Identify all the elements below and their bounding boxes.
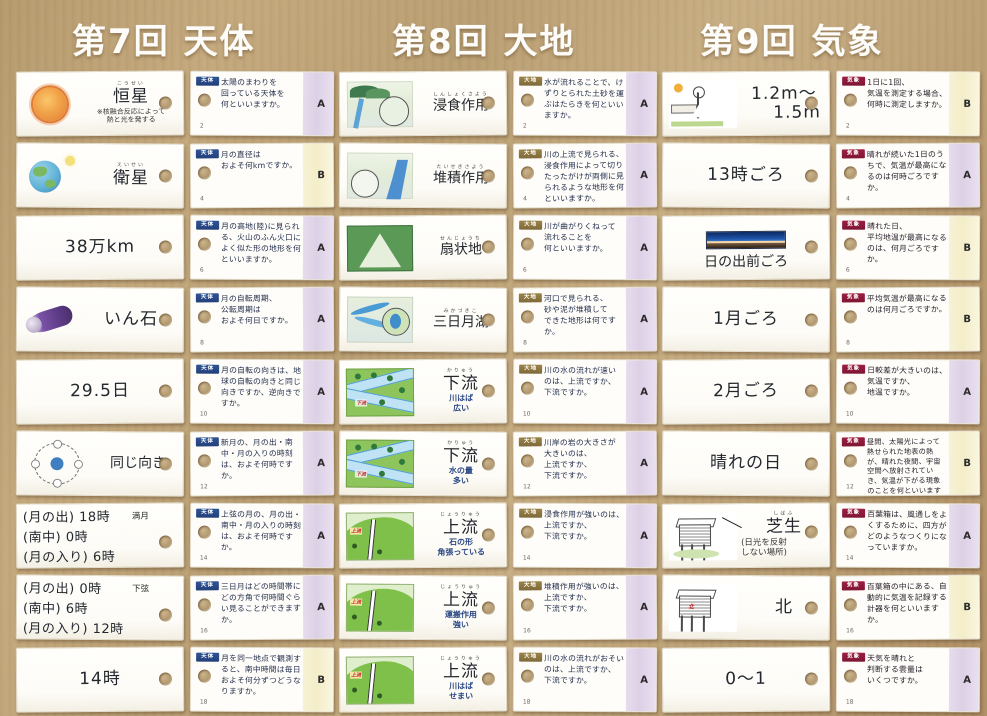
answer-card[interactable]: えいせい 衛星 <box>16 142 184 208</box>
card-pair-row: 北 北 気象 16 百葉箱の中にある、自動的に気温を記録する計器を何といいますか… <box>660 572 980 643</box>
question-card[interactable]: 天体 8 月の自転周期、 公転周期は およそ何日ですか。 A <box>190 286 334 352</box>
answer-card[interactable]: 上流 じょうりゅう 上流 川はば せまい <box>339 646 508 712</box>
category-badge: 大地 <box>519 365 542 374</box>
answer-text: 1月ごろ <box>713 310 779 329</box>
question-text: 三日月はどの時間帯にどの方角で何時間ぐらい見ることができますか。 <box>221 581 301 626</box>
question-card[interactable]: 天体 10 月の自転の向きは、地球の自転の向きと同じ向きですか、逆向きですか。 … <box>190 359 334 425</box>
answer-line: (月の出) 18時 <box>23 506 110 526</box>
answer-text: 衛星 <box>113 169 149 188</box>
question-text: 晴れが続いた1日のうちで、気温が最高になるのは何時ごろですか。 <box>867 149 947 194</box>
answer-text: 堆積作用 <box>433 171 489 187</box>
question-card[interactable]: 気象 16 百葉箱の中にある、自動的に気温を記録する計器を何といいますか。 B <box>836 574 980 640</box>
answer-card[interactable]: 晴れの日 <box>662 430 830 496</box>
answer-line: (月の入り) 12時 <box>23 617 124 637</box>
category-badge: 天体 <box>196 581 219 590</box>
punch-hole-icon <box>805 169 818 182</box>
answer-illustration: 上流 <box>344 654 416 707</box>
answer-text: 三日月湖 <box>433 315 489 331</box>
answer-text: 下流 <box>443 447 479 466</box>
question-text: 川の水の流れがおそい のは、上流ですか、 下流ですか。 <box>544 653 624 687</box>
punch-hole-icon <box>198 238 211 251</box>
punch-hole-icon <box>482 240 495 253</box>
punch-hole-icon <box>805 525 818 538</box>
category-badge: 天体 <box>196 77 219 86</box>
question-text: 月を同一地点で観測すると、南中時間は毎日およそ何分ずつどうなりますか。 <box>221 653 301 698</box>
question-text: 月の高地(陸)に見られる、火山のふん火口によく似た形の地形を何といいますか。 <box>221 221 301 266</box>
answer-note: 水の量 多い <box>449 467 473 487</box>
question-text: 上弦の月の、月の出・南中・月の入りの時刻は、およそ何時ですか。 <box>221 509 301 554</box>
answer-key-letter: B <box>963 98 971 109</box>
punch-hole-icon <box>198 166 211 179</box>
category-badge: 天体 <box>196 509 219 518</box>
upstream-map-icon: 上流 <box>346 583 414 631</box>
question-card[interactable]: 大地 18 川の水の流れがおそい のは、上流ですか、 下流ですか。 A <box>513 647 657 713</box>
answer-illustration <box>21 149 79 201</box>
answer-key-letter: A <box>317 530 325 541</box>
card-pair-row: えいせい 衛星 天体 4 月の直径は およそ何kmですか。 B <box>14 140 334 211</box>
question-card[interactable]: 気象 2 1日に1回、 気温を測定する場合、 何時に測定しますか。 B <box>836 71 980 137</box>
question-card[interactable]: 気象 10 日較差が大きいのは、 気温ですか、 地温ですか。 A <box>836 359 980 425</box>
answer-key-letter: B <box>963 602 971 613</box>
answer-text: 扇状地 <box>440 242 482 258</box>
card-pair-row: 13時ごろ 気象 4 晴れが続いた1日のうちで、気温が最高になるのは何時ごろです… <box>660 140 980 211</box>
punch-hole-icon <box>521 454 534 467</box>
answer-card[interactable]: 同じ向き <box>16 430 184 496</box>
card-pair-row: しんしょくさよう 浸食作用 大地 2 水が流れることで、けずりとられた土砂を運ぶ… <box>337 68 657 139</box>
answer-key-letter: A <box>963 674 971 685</box>
answer-key-letter: A <box>640 170 648 181</box>
question-number: 2 <box>200 123 204 130</box>
question-number: 6 <box>523 267 527 274</box>
answer-key-letter: A <box>963 530 971 541</box>
answer-illustration: 下流 <box>344 366 416 419</box>
erosion-diagram-icon <box>347 81 413 128</box>
answer-illustration: 上流 <box>344 581 416 634</box>
answer-card[interactable]: しんしょくさよう 浸食作用 <box>339 70 508 136</box>
card-pair-row: 38万km 天体 6 月の高地(陸)に見られる、火山のふん火口によく似た形の地形… <box>14 212 334 283</box>
answer-key-letter: B <box>963 314 971 325</box>
answer-text: 浸食作用 <box>433 98 489 114</box>
answer-text: 恒星 <box>113 88 149 107</box>
answer-card[interactable]: 0〜1 <box>662 646 831 712</box>
answer-card[interactable]: 北 北 <box>662 574 830 640</box>
answer-key-letter: B <box>963 242 971 253</box>
punch-hole-icon <box>482 169 495 182</box>
question-text: 月の自転の向きは、地球の自転の向きと同じ向きですか、逆向きですか。 <box>221 365 301 410</box>
card-pair-row: 1.2m〜 1.5m 気象 2 1日に1回、 気温を測定する場合、 何時に測定し… <box>660 68 980 139</box>
question-number: 18 <box>523 699 531 706</box>
question-card[interactable]: 天体 2 太陽のまわりを 回っている天体を 何といいますか。 A <box>190 71 334 137</box>
question-card[interactable]: 大地 6 川が曲がりくねって 流れることを 何といいますか。 A <box>513 215 657 281</box>
answer-text-lines: (月の出) 18時 (南中) 0時 (月の入り) 6時 <box>17 506 116 566</box>
category-badge: 大地 <box>519 437 542 446</box>
answer-text: いん石 <box>104 310 158 329</box>
punch-hole-icon <box>844 166 857 179</box>
question-card[interactable]: 大地 8 河口で見られる、 砂や泥が堆積して できた地形は何ですか。 A <box>513 286 657 352</box>
earth-icon <box>29 160 61 192</box>
card-pair-row: いん石 天体 8 月の自転周期、 公転周期は およそ何日ですか。 A <box>14 284 334 355</box>
question-number: 8 <box>200 339 204 346</box>
question-card[interactable]: 大地 2 水が流れることで、けずりとられた土砂を運ぶはたらきを何といいますか。 … <box>513 71 657 137</box>
category-badge: 気象 <box>842 509 865 518</box>
question-number: 6 <box>846 267 850 274</box>
question-number: 12 <box>846 483 854 490</box>
answer-card[interactable]: 下流 かりゅう 下流 水の量 多い <box>339 430 507 496</box>
answer-key-letter: A <box>317 98 325 109</box>
punch-hole-icon <box>844 670 857 683</box>
category-badge: 天体 <box>196 149 219 158</box>
punch-hole-icon <box>198 526 211 539</box>
upstream-map-icon: 上流 <box>346 656 414 705</box>
question-text: 川の水の流れが速い のは、上流ですか、 下流ですか。 <box>544 365 624 399</box>
question-card[interactable]: 気象 6 晴れた日、 平均地温が最高になる のは、何月ごろですか。 B <box>836 215 980 281</box>
card-pair-row: 0〜1 気象 18 天気を晴れと 判断する雲量は いくつですか。 A <box>660 644 980 715</box>
answer-key-letter: A <box>317 386 325 397</box>
answer-card[interactable]: たいせきさよう 堆積作用 <box>339 142 507 208</box>
card-pair-row: みかづきこ 三日月湖 大地 8 河口で見られる、 砂や泥が堆積して できた地形は… <box>337 284 657 355</box>
punch-hole-icon <box>521 598 534 611</box>
answer-illustration <box>344 222 416 275</box>
downstream-map-icon: 下流 <box>346 439 414 487</box>
answer-text: 芝生 <box>766 518 802 537</box>
question-text: 月の直径は およそ何kmですか。 <box>221 149 301 172</box>
category-badge: 気象 <box>842 653 865 662</box>
card-pair-row: 14時 天体 18 月を同一地点で観測すると、南中時間は毎日およそ何分ずつどうな… <box>14 644 334 715</box>
answer-card[interactable]: (月の出) 18時 (南中) 0時 (月の入り) 6時 満月 <box>16 502 185 568</box>
category-badge: 大地 <box>519 509 542 518</box>
deposition-diagram-icon <box>347 152 413 198</box>
card-pair-row: たいせきさよう 堆積作用 大地 4 川の上流で見られる、浸食作用によって切りたっ… <box>337 140 657 211</box>
card-pair-row: 日の出前ごろ 気象 6 晴れた日、 平均地温が最高になる のは、何月ごろですか。… <box>660 212 980 283</box>
oxbow-lake-icon <box>347 296 413 342</box>
card-pair-row: (月の出) 0時 (南中) 6時 (月の入り) 12時 下弦 天体 16 三日月… <box>14 572 334 643</box>
punch-hole-icon <box>844 310 857 323</box>
punch-hole-icon <box>159 240 172 253</box>
answer-text: 29.5日 <box>70 382 130 401</box>
answer-illustration <box>667 510 739 563</box>
answer-text-lines: (月の出) 0時 (南中) 6時 (月の入り) 12時 <box>17 577 124 637</box>
question-number: 4 <box>200 195 204 202</box>
answer-card[interactable]: 14時 <box>16 646 185 712</box>
card-pair-row: せんじょうち 扇状地 大地 6 川が曲がりくねって 流れることを 何といいますか… <box>337 212 657 283</box>
answer-illustration <box>667 78 739 131</box>
punch-hole-icon <box>521 166 534 179</box>
punch-hole-icon <box>844 238 857 251</box>
card-pair-row: 晴れの日 気象 12 昼間、太陽光によって熱せられた地表の熱が、晴れた夜間、宇宙… <box>660 428 980 499</box>
category-badge: 気象 <box>842 293 865 302</box>
answer-card[interactable]: 2月ごろ <box>662 358 831 424</box>
answer-card[interactable]: 1.2m〜 1.5m <box>662 70 831 136</box>
answer-illustration <box>344 149 416 202</box>
answer-note: 川はば 広い <box>449 394 473 414</box>
punch-hole-icon <box>521 382 534 395</box>
answer-card[interactable]: せんじょうち 扇状地 <box>339 214 508 280</box>
punch-hole-icon <box>805 240 818 253</box>
category-badge: 天体 <box>196 437 219 446</box>
answer-key-letter: A <box>640 458 648 469</box>
sun-icon <box>33 87 67 121</box>
answer-text: 2月ごろ <box>713 382 779 401</box>
answer-note: ※核融合反応によって 熱と光を発する <box>97 107 165 125</box>
answer-text: 13時ごろ <box>707 166 785 185</box>
answer-text: 上流 <box>443 662 479 681</box>
card-pair-row: こうせい 恒星 ※核融合反応によって 熱と光を発する 天体 2 太陽のまわりを … <box>14 68 334 139</box>
punch-hole-icon <box>805 601 818 614</box>
answer-line: (月の出) 0時 <box>23 577 102 597</box>
question-number: 2 <box>523 123 527 130</box>
question-text: 川が曲がりくねって 流れることを 何といいますか。 <box>544 221 624 255</box>
card-pair-row: 2月ごろ 気象 10 日較差が大きいのは、 気温ですか、 地温ですか。 A <box>660 356 980 427</box>
question-number: 10 <box>523 411 531 418</box>
question-number: 12 <box>523 483 531 490</box>
question-number: 18 <box>200 699 208 706</box>
answer-card[interactable]: こうせい 恒星 ※核融合反応によって 熱と光を発する <box>16 70 185 136</box>
answer-text: 0〜1 <box>725 670 767 689</box>
question-card[interactable]: 天体 6 月の高地(陸)に見られる、火山のふん火口によく似た形の地形を何といいま… <box>190 215 334 281</box>
punch-hole-icon <box>482 457 495 470</box>
card-pair-row: 下流 かりゅう 下流 水の量 多い 大地 12 川岸の岩の大きさが 大きいのは、… <box>337 428 657 499</box>
answer-card[interactable]: 下流 かりゅう 下流 川はば 広い <box>339 358 508 424</box>
question-text: 昼間、太陽光によって熱せられた地表の熱が、晴れた夜間、宇宙空間へ放射されていき、… <box>867 437 947 497</box>
answer-key-letter: A <box>963 386 971 397</box>
answer-key-letter: B <box>317 170 325 181</box>
category-badge: 大地 <box>519 653 542 662</box>
category-badge: 気象 <box>842 221 865 230</box>
answer-card[interactable]: みかづきこ 三日月湖 <box>339 286 507 352</box>
punch-hole-icon <box>159 169 172 182</box>
question-text: 浸食作用が強いのは、 上流ですか、 下流ですか。 <box>544 509 624 543</box>
category-badge: 天体 <box>196 653 219 662</box>
answer-text: 晴れの日 <box>710 454 782 473</box>
question-text: 日較差が大きいのは、 気温ですか、 地温ですか。 <box>867 365 947 399</box>
louvered-screen-north-icon: 北 <box>669 583 737 631</box>
answer-illustration <box>344 78 416 131</box>
category-badge: 天体 <box>196 221 219 230</box>
question-number: 10 <box>200 411 208 418</box>
answer-key-letter: A <box>963 170 971 181</box>
question-number: 8 <box>523 339 527 346</box>
punch-hole-icon <box>159 384 172 397</box>
punch-hole-icon <box>482 96 495 109</box>
question-number: 14 <box>846 555 854 562</box>
question-card[interactable]: 大地 4 川の上流で見られる、浸食作用によって切りたったがけが両側に見られるよう… <box>513 142 657 208</box>
question-text: 晴れた日、 平均地温が最高になる のは、何月ごろですか。 <box>867 221 947 266</box>
punch-hole-icon <box>844 382 857 395</box>
answer-illustration: 下流 <box>344 437 416 490</box>
answer-key-letter: A <box>640 242 648 253</box>
answer-text: 上流 <box>443 591 479 610</box>
question-card[interactable]: 天体 16 三日月はどの時間帯にどの方角で何時間ぐらい見ることができますか。 A <box>190 574 334 640</box>
question-card[interactable]: 天体 12 新月の、月の出・南中・月の入りの時刻は、およそ何時ですか。 A <box>190 430 334 496</box>
category-badge: 気象 <box>842 581 865 590</box>
punch-hole-icon <box>844 454 857 467</box>
question-text: 堆積作用が強いのは、 上流ですか、 下流ですか。 <box>544 581 624 615</box>
answer-text: 38万km <box>65 238 135 257</box>
category-badge: 気象 <box>842 77 865 86</box>
question-number: 4 <box>846 195 850 202</box>
answer-card[interactable]: 38万km <box>16 214 185 280</box>
card-pair-row: (月の出) 18時 (南中) 0時 (月の入り) 6時 満月 天体 14 上弦の… <box>14 500 334 571</box>
question-number: 14 <box>200 555 208 562</box>
answer-note: (日光を反射 しない場所) <box>741 537 787 559</box>
punch-hole-icon <box>805 313 818 326</box>
punch-hole-icon <box>482 313 495 326</box>
punch-hole-icon <box>198 670 211 683</box>
answer-tag: 下弦 <box>132 582 149 594</box>
answer-key-letter: A <box>317 458 325 469</box>
category-badge: 天体 <box>196 293 219 302</box>
punch-hole-icon <box>521 670 534 683</box>
question-card[interactable]: 天体 18 月を同一地点で観測すると、南中時間は毎日およそ何分ずつどうなりますか… <box>190 647 334 713</box>
answer-key-letter: A <box>640 674 648 685</box>
question-card[interactable]: 気象 4 晴れが続いた1日のうちで、気温が最高になるのは何時ごろですか。 A <box>836 142 980 208</box>
answer-note: 運搬作用 強い <box>445 610 477 630</box>
question-card[interactable]: 天体 4 月の直径は およそ何kmですか。 B <box>190 142 334 208</box>
answer-illustration: 上流 <box>344 510 416 563</box>
answer-key-letter: B <box>963 458 971 469</box>
question-number: 16 <box>846 627 854 634</box>
answer-card[interactable]: 1月ごろ <box>662 286 830 352</box>
sunrise-photo-icon <box>706 230 786 249</box>
question-text: 新月の、月の出・南中・月の入りの時刻は、およそ何時ですか。 <box>221 437 301 482</box>
punch-hole-icon <box>159 535 172 548</box>
downstream-map-icon: 下流 <box>346 368 414 417</box>
punch-hole-icon <box>159 96 172 109</box>
answer-key-letter: A <box>640 314 648 325</box>
answer-card[interactable]: いん石 <box>16 286 184 352</box>
answer-key-letter: A <box>317 314 325 325</box>
answer-illustration <box>344 293 416 346</box>
answer-card[interactable]: 29.5日 <box>16 358 185 424</box>
punch-hole-icon <box>521 94 534 107</box>
question-number: 16 <box>200 627 208 634</box>
answer-text: 14時 <box>79 670 121 689</box>
category-badge: 気象 <box>842 365 865 374</box>
answer-text: 同じ向き <box>110 456 166 472</box>
alluvial-fan-icon <box>347 225 413 272</box>
card-pair-row: 29.5日 天体 10 月の自転の向きは、地球の自転の向きと同じ向きですか、逆向… <box>14 356 334 427</box>
question-text: 月の自転周期、 公転周期は およそ何日ですか。 <box>221 293 301 327</box>
answer-card[interactable]: しばふ 芝生 (日光を反射 しない場所) <box>662 502 831 568</box>
answer-key-letter: A <box>317 242 325 253</box>
question-card[interactable]: 気象 14 百葉箱は、風通しをよくするために、四方がどのようなつくりになっていま… <box>836 503 980 569</box>
question-number: 8 <box>846 339 850 346</box>
punch-hole-icon <box>198 310 211 323</box>
category-badge: 気象 <box>842 437 865 446</box>
card-pair-row: 下流 かりゅう 下流 川はば 広い 大地 10 川の水の流れが速い のは、上流で… <box>337 356 657 427</box>
question-card[interactable]: 大地 16 堆積作用が強いのは、 上流ですか、 下流ですか。 A <box>513 574 657 640</box>
question-text: 河口で見られる、 砂や泥が堆積して できた地形は何ですか。 <box>544 293 624 338</box>
card-pair-row: 上流 じょうりゅう 上流 運搬作用 強い 大地 16 堆積作用が強いのは、 上流… <box>337 572 657 643</box>
answer-illustration <box>21 437 93 490</box>
answer-note: 石の形 角張っている <box>437 538 485 558</box>
answer-card[interactable]: 上流 じょうりゅう 上流 運搬作用 強い <box>339 574 507 640</box>
punch-hole-icon <box>844 526 857 539</box>
column-title-tentai: 第7回 天体 <box>72 14 256 63</box>
punch-hole-icon <box>521 310 534 323</box>
question-number: 12 <box>200 483 208 490</box>
category-badge: 大地 <box>519 149 542 158</box>
answer-illustration <box>21 293 79 345</box>
punch-hole-icon <box>805 96 818 109</box>
punch-hole-icon <box>805 672 818 685</box>
question-card[interactable]: 大地 14 浸食作用が強いのは、 上流ですか、 下流ですか。 A <box>513 503 657 569</box>
answer-illustration <box>702 226 790 253</box>
question-card[interactable]: 気象 8 平均気温が最高になる のは何月ごろですか。 B <box>836 286 980 352</box>
punch-hole-icon <box>198 454 211 467</box>
question-card[interactable]: 大地 12 川岸の岩の大きさが 大きいのは、 上流ですか、 下流ですか。 A <box>513 430 657 496</box>
punch-hole-icon <box>482 601 495 614</box>
card-board: 第7回 天体 第8回 大地 第9回 気象 こうせい 恒星 ※核融合反応によって … <box>0 0 987 716</box>
answer-card[interactable]: 13時ごろ <box>662 142 830 208</box>
question-card[interactable]: 大地 10 川の水の流れが速い のは、上流ですか、 下流ですか。 A <box>513 359 657 425</box>
category-badge: 大地 <box>519 77 542 86</box>
question-card[interactable]: 気象 12 昼間、太陽光によって熱せられた地表の熱が、晴れた夜間、宇宙空間へ放射… <box>836 430 980 496</box>
answer-key-letter: A <box>640 602 648 613</box>
punch-hole-icon <box>159 608 172 621</box>
answer-text: 北 <box>775 598 793 617</box>
punch-hole-icon <box>198 382 211 395</box>
answer-line: (月の入り) 6時 <box>23 546 115 566</box>
answer-key-letter: A <box>317 602 325 613</box>
punch-hole-icon <box>159 313 172 326</box>
punch-hole-icon <box>482 384 495 397</box>
upstream-map-icon: 上流 <box>346 512 414 561</box>
card-pair-row: しばふ 芝生 (日光を反射 しない場所) 気象 14 百葉箱は、風通しをよくする… <box>660 500 980 571</box>
answer-text: 上流 <box>443 518 479 537</box>
card-pair-row: 上流 じょうりゅう 上流 川はば せまい 大地 18 川の水の流れがおそい のは… <box>337 644 657 715</box>
question-number: 2 <box>846 123 850 130</box>
punch-hole-icon <box>198 94 211 107</box>
punch-hole-icon <box>198 598 211 611</box>
question-number: 4 <box>523 195 527 202</box>
answer-tag: 満月 <box>132 510 149 522</box>
column-title-daichi: 第8回 大地 <box>392 14 576 63</box>
answer-card[interactable]: 日の出前ごろ <box>662 214 831 280</box>
category-badge: 大地 <box>519 293 542 302</box>
punch-hole-icon <box>159 457 172 470</box>
question-text: 川の上流で見られる、浸食作用によって切りたったがけが両側に見られるような地形を何… <box>544 149 624 205</box>
answer-text: 日の出前ごろ <box>663 254 829 271</box>
punch-hole-icon <box>844 94 857 107</box>
question-card[interactable]: 気象 18 天気を晴れと 判断する雲量は いくつですか。 A <box>836 647 980 713</box>
answer-illustration <box>21 78 79 130</box>
answer-line: (南中) 0時 <box>23 526 88 546</box>
category-badge: 大地 <box>519 221 542 230</box>
moon-phase-dial-icon <box>34 442 80 484</box>
answer-card[interactable]: 上流 じょうりゅう 上流 石の形 角張っている <box>339 502 508 568</box>
question-text: 平均気温が最高になる のは何月ごろですか。 <box>867 293 947 316</box>
question-text: 百葉箱は、風通しをよくするために、四方がどのようなつくりになっていますか。 <box>867 509 947 554</box>
punch-hole-icon <box>159 672 172 685</box>
column-tentai: こうせい 恒星 ※核融合反応によって 熱と光を発する 天体 2 太陽のまわりを … <box>14 68 334 716</box>
punch-hole-icon <box>521 238 534 251</box>
meteor-icon <box>25 303 75 336</box>
column-daichi: しんしょくさよう 浸食作用 大地 2 水が流れることで、けずりとられた土砂を運ぶ… <box>337 68 657 716</box>
question-text: 川岸の岩の大きさが 大きいのは、 上流ですか、 下流ですか。 <box>544 437 624 482</box>
answer-card[interactable]: (月の出) 0時 (南中) 6時 (月の入り) 12時 下弦 <box>16 574 184 640</box>
category-badge: 大地 <box>519 581 542 590</box>
answer-text: 下流 <box>443 374 479 393</box>
punch-hole-icon <box>805 457 818 470</box>
question-number: 14 <box>523 555 531 562</box>
category-badge: 天体 <box>196 365 219 374</box>
question-card[interactable]: 天体 14 上弦の月の、月の出・南中・月の入りの時刻は、およそ何時ですか。 A <box>190 503 334 569</box>
moon-icon <box>65 155 75 165</box>
card-pair-row: 1月ごろ 気象 8 平均気温が最高になる のは何月ごろですか。 B <box>660 284 980 355</box>
punch-hole-icon <box>482 528 495 541</box>
temperature-measure-icon <box>669 80 737 129</box>
